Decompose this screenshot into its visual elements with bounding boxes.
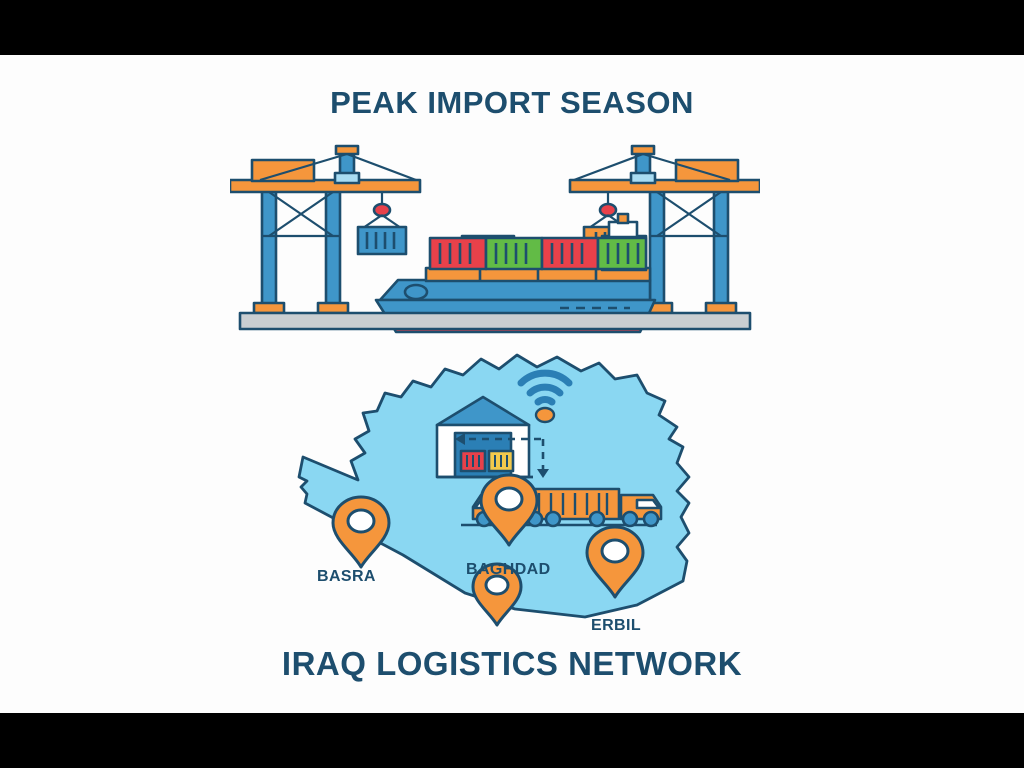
page-title-top: PEAK IMPORT SEASON [0, 85, 1024, 121]
map-label-baghdad: BAGHDAD [466, 561, 551, 579]
slide-content: PEAK IMPORT SEASON [0, 55, 1024, 713]
letterbox-bar-top [0, 0, 1024, 55]
letterbox-bar-bottom [0, 713, 1024, 768]
ship-container-row [430, 238, 646, 269]
marker-basra [333, 497, 389, 567]
slide-stage: PEAK IMPORT SEASON [0, 0, 1024, 768]
map-label-basra: BASRA [317, 568, 376, 586]
map-label-erbil: ERBIL [591, 617, 641, 635]
dock-platform [240, 313, 750, 329]
page-title-bottom: IRAQ LOGISTICS NETWORK [0, 645, 1024, 683]
port-illustration [230, 140, 760, 340]
map-illustration [285, 335, 725, 635]
hanging-container-left [358, 227, 406, 254]
ship-container-stack [430, 236, 646, 269]
